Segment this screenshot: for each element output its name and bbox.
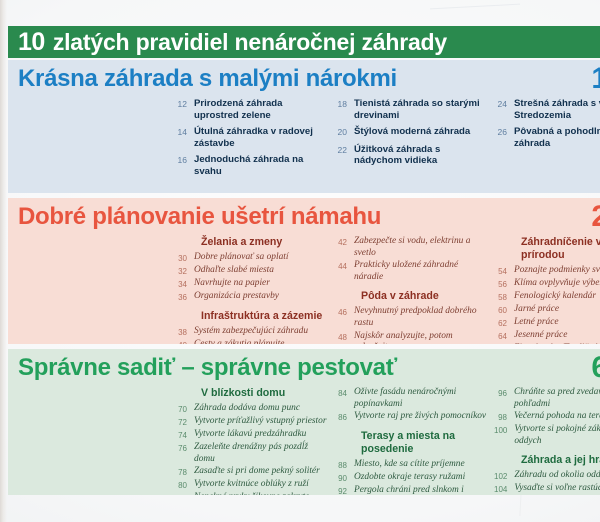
toc-entry-page: 100 [494, 424, 514, 436]
toc-entry[interactable]: 16Jednoduchá záhrada na svahu [174, 154, 328, 177]
toc-subheading: Záhrada a jej hranice [494, 454, 600, 467]
toc-entry-page: 42 [334, 236, 354, 248]
section-title: Dobré plánovanie ušetrí námahu [8, 205, 381, 229]
toc-entry-label: Záhrada dodáva domu punc [194, 403, 328, 415]
toc-entry-label: Prakticky uložené záhradné náradie [354, 260, 488, 283]
toc-entry-page: 38 [174, 326, 194, 338]
toc-entry-label: Fenologický kalendár [514, 291, 600, 303]
toc-entry-label: Vytvorte lákavú predzáhradku [194, 429, 328, 441]
toc-entry-label: Útulná záhradka v radovej zástavbe [194, 126, 328, 149]
toc-entry[interactable]: 40Cesty a zákutia plánujte premyslene [174, 339, 328, 344]
toc-entry[interactable]: 90Ozdobte okraje terasy ružami [334, 472, 488, 484]
toc-column: V blízkosti domu70Záhrada dodáva domu pu… [174, 387, 334, 495]
toc-entry-label: Klíma ovplyvňuje výber rastlín [514, 278, 600, 290]
toc-entry-label: Letné práce [514, 317, 600, 329]
toc-column: Želania a zmeny30Dobre plánovať sa oplat… [174, 236, 334, 344]
toc-entry[interactable]: 48Najskôr analyzujte, potom vylepšujte [334, 331, 488, 344]
toc-entry-label: Pôvabná a pohodlná obytná záhrada [514, 126, 600, 149]
toc-entry-page: 78 [174, 466, 194, 478]
toc-entry[interactable]: 82Nepekné prvky šikovne zakryte [174, 492, 328, 495]
toc-entry-page: 16 [174, 154, 194, 167]
section-number: 6 [591, 353, 600, 383]
toc-entry-page: 24 [494, 98, 514, 111]
toc-entry-label: Prirodzená záhrada uprostred zelene [194, 98, 328, 121]
toc-entry-label: Najskôr analyzujte, potom vylepšujte [354, 331, 488, 344]
toc-entry-page: 88 [334, 459, 354, 471]
toc-entry[interactable]: 64Jesenné práce [494, 330, 600, 342]
toc-entry-label: Štýlová moderná záhrada [354, 126, 488, 138]
toc-entry-label: Oživte fasádu nenáročnými popínavkami [354, 387, 488, 410]
toc-subheading: Terasy a miesta na posedenie [334, 430, 488, 456]
toc-column: 42Zabezpečte si vodu, elektrinu a svetlo… [334, 236, 494, 344]
toc-entry-label: Ozdobte okraje terasy ružami [354, 472, 488, 484]
toc-entry-page: 54 [494, 265, 514, 277]
toc-entry-label: Odhaľte slabé miesta [194, 265, 328, 277]
toc-entry[interactable]: 62Letné práce [494, 317, 600, 329]
section-columns: 12Prirodzená záhrada uprostred zelene14Ú… [8, 98, 600, 182]
toc-entry-page: 90 [334, 472, 354, 484]
toc-entry-page: 92 [334, 485, 354, 495]
section-title: Krásna záhrada s malými nárokmi [8, 67, 397, 91]
toc-entry-label: Zasaďte si pri dome pekný solitér [194, 466, 328, 478]
toc-entry-page: 36 [174, 291, 194, 303]
toc-entry-label: Jesenné práce [514, 330, 600, 342]
toc-entry-label: Nepekné prvky šikovne zakryte [194, 492, 328, 495]
toc-entry[interactable]: 74Vytvorte lákavú predzáhradku [174, 429, 328, 441]
section-columns: Želania a zmeny30Dobre plánovať sa oplat… [8, 236, 600, 344]
toc-entry[interactable]: 76Zazeleňte drenážny pás pozdĺž domu [174, 442, 328, 465]
toc-column: 96Chráňte sa pred zvedavými pohľadmi98Ve… [494, 387, 600, 495]
section-krasna-zahrada: Krásna záhrada s malými nárokmi112Prirod… [8, 60, 600, 193]
toc-entry[interactable]: 96Chráňte sa pred zvedavými pohľadmi [494, 387, 600, 410]
toc-entry-label: Strešná záhrada s vôňou Stredozemia [514, 98, 600, 121]
toc-entry-label: Dobre plánovať sa oplatí [194, 252, 328, 264]
toc-subheading: Infraštruktúra a zázemie [174, 310, 328, 323]
toc-entry-page: 64 [494, 330, 514, 342]
toc-column: 12Prirodzená záhrada uprostred zelene14Ú… [174, 98, 334, 182]
toc-entry-page: 72 [174, 416, 194, 428]
toc-subheading: Želania a zmeny [174, 236, 328, 249]
toc-entry-page: 56 [494, 278, 514, 290]
toc-entry-label: Pergola chráni pred slnkom i vetrom [354, 485, 488, 495]
toc-column: 84Oživte fasádu nenáročnými popínavkami8… [334, 387, 494, 495]
toc-column: 24Strešná záhrada s vôňou Stredozemia26P… [494, 98, 600, 182]
masthead-banner: 10 zlatých pravidiel nenáročnej záhrady [8, 26, 600, 58]
masthead-title: zlatých pravidiel nenáročnej záhrady [45, 31, 447, 54]
section-header: Dobré plánovanie ušetrí námahu2 [8, 198, 600, 236]
toc-entry-page: 96 [494, 387, 514, 399]
toc-entry-label: Organizácia prestavby [194, 291, 328, 303]
toc-entry-label: Tienistá záhrada so starými drevinami [354, 98, 488, 121]
toc-entry[interactable]: 84Oživte fasádu nenáročnými popínavkami [334, 387, 488, 410]
toc-entry[interactable]: 104Vysaďte si voľne rastúci kvitnúci živ… [494, 483, 600, 495]
toc-entry-page: 44 [334, 260, 354, 272]
toc-entry-label: Poznajte podmienky svojej záhrady [514, 265, 600, 277]
toc-entry-page: 34 [174, 278, 194, 290]
toc-entry[interactable]: 72Vytvorte príťažlivý vstupný priestor [174, 416, 328, 428]
toc-entry[interactable]: 56Klíma ovplyvňuje výber rastlín [494, 278, 600, 290]
toc-entry[interactable]: 34Navrhujte na papier [174, 278, 328, 290]
toc-entry-label: Nevyhnutný predpoklad dobrého rastu [354, 306, 488, 329]
toc-entry-page: 66 [494, 343, 514, 344]
toc-entry[interactable]: 18Tienistá záhrada so starými drevinami [334, 98, 488, 121]
toc-entry-page: 26 [494, 126, 514, 139]
toc-entry[interactable]: 86Vytvorte raj pre živých pomocníkov [334, 411, 488, 423]
toc-entry-page: 104 [494, 483, 514, 495]
toc-entry[interactable]: 22Úžitková záhrada s nádychom vidieka [334, 144, 488, 167]
toc-entry[interactable]: 44Prakticky uložené záhradné náradie [334, 260, 488, 283]
toc-entry-page: 58 [494, 291, 514, 303]
toc-entry[interactable]: 30Dobre plánovať sa oplatí [174, 252, 328, 264]
toc-entry-label: Vytvorte si pokojné zákutie na oddych [514, 424, 600, 447]
toc-entry[interactable]: 88Miesto, kde sa cítite príjemne [334, 459, 488, 471]
toc-entry[interactable]: 92Pergola chráni pred slnkom i vetrom [334, 485, 488, 495]
section-title: Správne sadiť – správne pestovať [8, 356, 397, 380]
toc-entry-page: 12 [174, 98, 194, 111]
toc-entry-page: 70 [174, 403, 194, 415]
toc-entry-label: Systém zabezpečujúci záhradu [194, 326, 328, 338]
toc-entry[interactable]: 66Zimné práce/Tradičné časové merítko [494, 343, 600, 344]
toc-entry-page: 82 [174, 492, 194, 495]
toc-entry-label: Večerná pohoda na terase [514, 411, 600, 423]
section-number: 1 [591, 64, 600, 94]
toc-entry-label: Vysaďte si voľne rastúci kvitnúci živý p… [514, 483, 600, 495]
toc-column: Záhradníčenie v súlade s prírodou54Pozna… [494, 236, 600, 344]
toc-entry-page: 48 [334, 331, 354, 343]
section-spravne-sadit: Správne sadiť – správne pestovať6V blízk… [8, 349, 600, 495]
toc-entry-page: 32 [174, 265, 194, 277]
masthead-number: 10 [8, 30, 45, 55]
toc-entry[interactable]: 20Štýlová moderná záhrada [334, 126, 488, 139]
toc-entry[interactable]: 78Zasaďte si pri dome pekný solitér [174, 466, 328, 478]
toc-entry-page: 84 [334, 387, 354, 399]
section-header: Správne sadiť – správne pestovať6 [8, 349, 600, 387]
toc-entry[interactable]: 54Poznajte podmienky svojej záhrady [494, 265, 600, 277]
toc-entry-page: 86 [334, 411, 354, 423]
toc-entry[interactable]: 26Pôvabná a pohodlná obytná záhrada [494, 126, 600, 149]
toc-entry[interactable]: 12Prirodzená záhrada uprostred zelene [174, 98, 328, 121]
toc-entry-label: Zazeleňte drenážny pás pozdĺž domu [194, 442, 328, 465]
toc-entry-label: Jednoduchá záhrada na svahu [194, 154, 328, 177]
toc-entry[interactable]: 80Vytvorte kvitnúce oblúky z ruží [174, 479, 328, 491]
toc-entry-label: Záhradu od okolia oddeľte štýlovo [514, 470, 600, 482]
toc-entry-page: 74 [174, 429, 194, 441]
toc-subheading: Záhradníčenie v súlade s prírodou [494, 236, 600, 262]
toc-entry-page: 14 [174, 126, 194, 139]
toc-entry-page: 60 [494, 304, 514, 316]
toc-entry-label: Cesty a zákutia plánujte premyslene [194, 339, 328, 344]
toc-entry-page: 30 [174, 252, 194, 264]
toc-entry[interactable]: 98Večerná pohoda na terase [494, 411, 600, 423]
toc-entry[interactable]: 24Strešná záhrada s vôňou Stredozemia [494, 98, 600, 121]
toc-entry[interactable]: 70Záhrada dodáva domu punc [174, 403, 328, 415]
section-number: 2 [591, 202, 600, 232]
section-header: Krásna záhrada s malými nárokmi1 [8, 60, 600, 98]
toc-entry[interactable]: 38Systém zabezpečujúci záhradu [174, 326, 328, 338]
toc-entry-page: 62 [494, 317, 514, 329]
toc-entry[interactable]: 102Záhradu od okolia oddeľte štýlovo [494, 470, 600, 482]
toc-entry-label: Navrhujte na papier [194, 278, 328, 290]
toc-entry-page: 46 [334, 306, 354, 318]
toc-entry-page: 40 [174, 339, 194, 344]
toc-entry[interactable]: 42Zabezpečte si vodu, elektrinu a svetlo [334, 236, 488, 259]
toc-column: 18Tienistá záhrada so starými drevinami2… [334, 98, 494, 182]
toc-entry[interactable]: 32Odhaľte slabé miesta [174, 265, 328, 277]
toc-entry-page: 18 [334, 98, 354, 111]
toc-entry[interactable]: 36Organizácia prestavby [174, 291, 328, 303]
toc-entry-label: Miesto, kde sa cítite príjemne [354, 459, 488, 471]
toc-entry[interactable]: 60Jarné práce [494, 304, 600, 316]
toc-entry-page: 76 [174, 442, 194, 454]
toc-entry-page: 80 [174, 479, 194, 491]
toc-entry-label: Chráňte sa pred zvedavými pohľadmi [514, 387, 600, 410]
toc-entry-label: Jarné práce [514, 304, 600, 316]
toc-entry-label: Vytvorte príťažlivý vstupný priestor [194, 416, 328, 428]
toc-entry[interactable]: 14Útulná záhradka v radovej zástavbe [174, 126, 328, 149]
toc-subheading: Pôda v záhrade [334, 290, 488, 303]
toc-entry-label: Vytvorte kvitnúce oblúky z ruží [194, 479, 328, 491]
toc-entry-label: Úžitková záhrada s nádychom vidieka [354, 144, 488, 167]
toc-entry-label: Vytvorte raj pre živých pomocníkov [354, 411, 488, 423]
section-columns: V blízkosti domu70Záhrada dodáva domu pu… [8, 387, 600, 495]
toc-entry[interactable]: 46Nevyhnutný predpoklad dobrého rastu [334, 306, 488, 329]
toc-entry[interactable]: 58Fenologický kalendár [494, 291, 600, 303]
toc-subheading: V blízkosti domu [174, 387, 328, 400]
toc-entry-page: 22 [334, 144, 354, 157]
toc-entry-page: 98 [494, 411, 514, 423]
toc-entry-label: Zabezpečte si vodu, elektrinu a svetlo [354, 236, 488, 259]
toc-entry[interactable]: 100Vytvorte si pokojné zákutie na oddych [494, 424, 600, 447]
toc-entry-label: Zimné práce/Tradičné časové merítko [514, 343, 600, 344]
section-dobre-planovanie: Dobré plánovanie ušetrí námahu2Želania a… [8, 198, 600, 344]
toc-entry-page: 20 [334, 126, 354, 139]
toc-entry-page: 102 [494, 470, 514, 482]
